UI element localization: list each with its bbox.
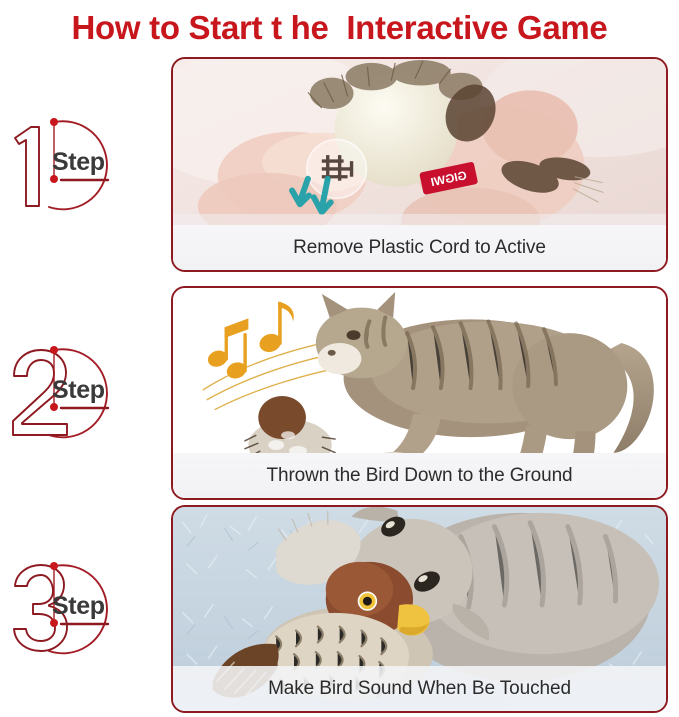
- step-badge-label-1: Step: [52, 148, 105, 177]
- step-badge-label-3: Step: [52, 592, 105, 621]
- step-badge-label-2: Step: [52, 376, 105, 405]
- page-title: How to Start t he Interactive Game: [0, 0, 679, 48]
- step-row-2: Step: [0, 286, 679, 500]
- step-row-3: Step: [0, 505, 679, 713]
- step-badge-2: Step: [8, 328, 163, 458]
- step-caption-2: Thrown the Bird Down to the Ground: [173, 453, 666, 498]
- step-row-1: Step: [0, 57, 679, 272]
- step-caption-3: Make Bird Sound When Be Touched: [173, 666, 666, 711]
- step-card-3: Make Bird Sound When Be Touched: [171, 505, 668, 713]
- step-card-2: Thrown the Bird Down to the Ground: [171, 286, 668, 500]
- step-caption-1: Remove Plastic Cord to Active: [173, 225, 666, 270]
- step-card-1: GIGWI Remove Plastic Cord to Active: [171, 57, 668, 272]
- step-badge-1: Step: [8, 100, 163, 230]
- step-badge-3: Step: [8, 544, 163, 674]
